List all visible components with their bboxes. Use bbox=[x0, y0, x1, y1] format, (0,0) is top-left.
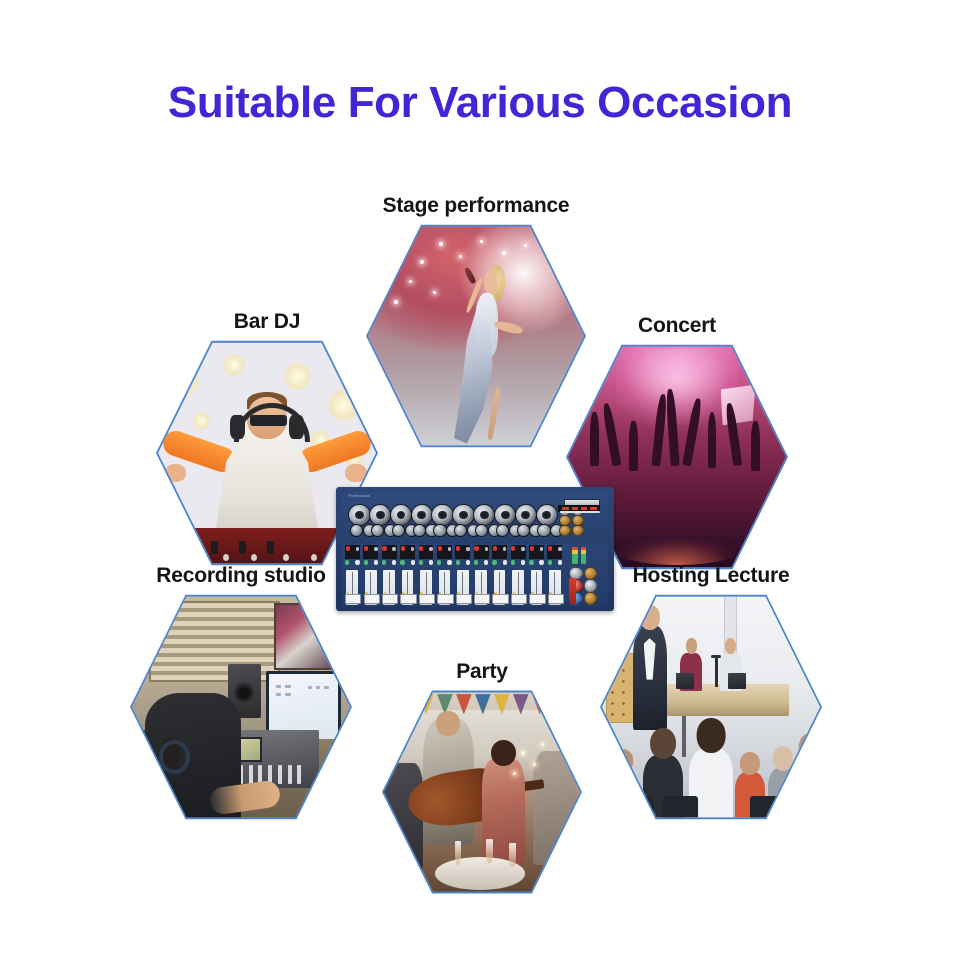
laptop-left bbox=[676, 673, 693, 689]
occasion-label-party: Party bbox=[456, 660, 508, 684]
xlr-input-jack bbox=[369, 504, 391, 526]
xlr-input-jack bbox=[431, 504, 453, 526]
chair-back bbox=[663, 796, 698, 820]
xlr-input-jack bbox=[348, 504, 370, 526]
occasion-label-recording-studio: Recording studio bbox=[156, 564, 325, 588]
extended-arm bbox=[493, 320, 524, 336]
effect-knob bbox=[572, 525, 584, 537]
occasion-label-bar-dj: Bar DJ bbox=[234, 310, 301, 334]
dj-right-hand bbox=[345, 464, 367, 482]
head bbox=[484, 270, 497, 294]
occasion-cell-stage-performance[interactable]: Stage performance bbox=[366, 222, 586, 450]
xlr-input-jack bbox=[473, 504, 495, 526]
channel-strip bbox=[510, 545, 526, 606]
channel-strip bbox=[455, 545, 471, 606]
hexagon-frame bbox=[130, 592, 352, 822]
channel-strip bbox=[492, 545, 508, 606]
trs-jack bbox=[413, 524, 426, 537]
lecture-audience bbox=[602, 712, 820, 820]
hexagon-image-clip bbox=[602, 594, 820, 820]
channel-strip bbox=[436, 545, 452, 606]
master-knob bbox=[584, 567, 597, 580]
channel-strip bbox=[344, 545, 360, 606]
infographic-canvas: Suitable For Various Occasion Stage perf… bbox=[0, 0, 960, 960]
party-bunting bbox=[396, 694, 568, 714]
trs-jack bbox=[496, 524, 509, 537]
photo-stage-performance bbox=[368, 224, 584, 448]
mixer-brand-text: Professional bbox=[348, 494, 370, 498]
dj-headphone-cup-left bbox=[230, 415, 245, 440]
occasion-cell-recording-studio[interactable]: Recording studio bbox=[130, 592, 352, 822]
master-fader bbox=[569, 578, 576, 604]
trs-jack bbox=[475, 524, 488, 537]
laptop-right bbox=[728, 673, 745, 689]
level-meter bbox=[572, 547, 578, 564]
xlr-input-jack bbox=[515, 504, 537, 526]
mixer-channel-strips bbox=[342, 544, 609, 607]
table-microphone bbox=[715, 657, 717, 686]
microphone-icon bbox=[464, 266, 477, 284]
audience-member bbox=[606, 770, 639, 820]
mixer-master-section bbox=[567, 545, 604, 607]
xlr-input-jack bbox=[390, 504, 412, 526]
xlr-input-jack bbox=[452, 504, 474, 526]
hexagon-image-clip bbox=[132, 594, 350, 820]
display-label-strip bbox=[560, 511, 600, 513]
xlr-input-jack bbox=[411, 504, 433, 526]
wall-poster bbox=[274, 603, 339, 670]
party-guest-right bbox=[533, 751, 576, 865]
audience-member bbox=[768, 768, 799, 820]
channel-strip bbox=[473, 545, 489, 606]
photo-hosting-lecture bbox=[602, 594, 820, 820]
stage-glow bbox=[616, 349, 738, 426]
master-knob bbox=[584, 592, 597, 605]
xlr-input-jack bbox=[494, 504, 516, 526]
photo-party bbox=[384, 690, 580, 894]
level-meter bbox=[581, 547, 587, 564]
occasion-label-concert: Concert bbox=[638, 314, 716, 338]
trs-jack bbox=[350, 524, 363, 537]
channel-strip bbox=[399, 545, 415, 606]
hexagon-frame bbox=[382, 688, 582, 896]
occasion-cell-party[interactable]: Party bbox=[382, 688, 582, 896]
leg bbox=[487, 387, 501, 440]
chair-back bbox=[750, 796, 785, 820]
mixer-input-panel: Professional bbox=[342, 492, 609, 542]
hexagon-frame bbox=[366, 222, 586, 450]
singer-figure bbox=[446, 255, 532, 443]
effect-knob bbox=[559, 525, 571, 537]
hexagon-frame bbox=[600, 592, 822, 822]
occasion-label-stage-performance: Stage performance bbox=[383, 194, 570, 218]
trs-jack bbox=[392, 524, 405, 537]
hexagon-image-clip bbox=[384, 690, 580, 894]
channel-strip bbox=[528, 545, 544, 606]
audience-member bbox=[794, 759, 820, 820]
dj-left-hand bbox=[165, 464, 187, 482]
dj-headphone-cup-right bbox=[289, 415, 304, 440]
master-knob bbox=[584, 579, 597, 592]
center-product-audio-mixer[interactable]: Professional bbox=[336, 487, 614, 611]
occasion-label-hosting-lecture: Hosting Lecture bbox=[633, 564, 790, 588]
photo-recording-studio bbox=[132, 594, 350, 820]
channel-strip bbox=[547, 545, 563, 606]
chair-back bbox=[619, 796, 654, 820]
hexagon-image-clip bbox=[368, 224, 584, 448]
page-title: Suitable For Various Occasion bbox=[0, 78, 960, 128]
mixer-chassis: Professional bbox=[336, 487, 614, 611]
trs-jack bbox=[433, 524, 446, 537]
trs-jack bbox=[371, 524, 384, 537]
engineer-headphones bbox=[159, 740, 190, 773]
trs-jack bbox=[454, 524, 467, 537]
occasion-cell-hosting-lecture[interactable]: Hosting Lecture bbox=[600, 592, 822, 822]
channel-strip bbox=[418, 545, 434, 606]
trs-jack bbox=[517, 524, 530, 537]
channel-strip bbox=[363, 545, 379, 606]
xlr-input-jack bbox=[536, 504, 558, 526]
trs-jack bbox=[537, 524, 550, 537]
channel-strip bbox=[381, 545, 397, 606]
